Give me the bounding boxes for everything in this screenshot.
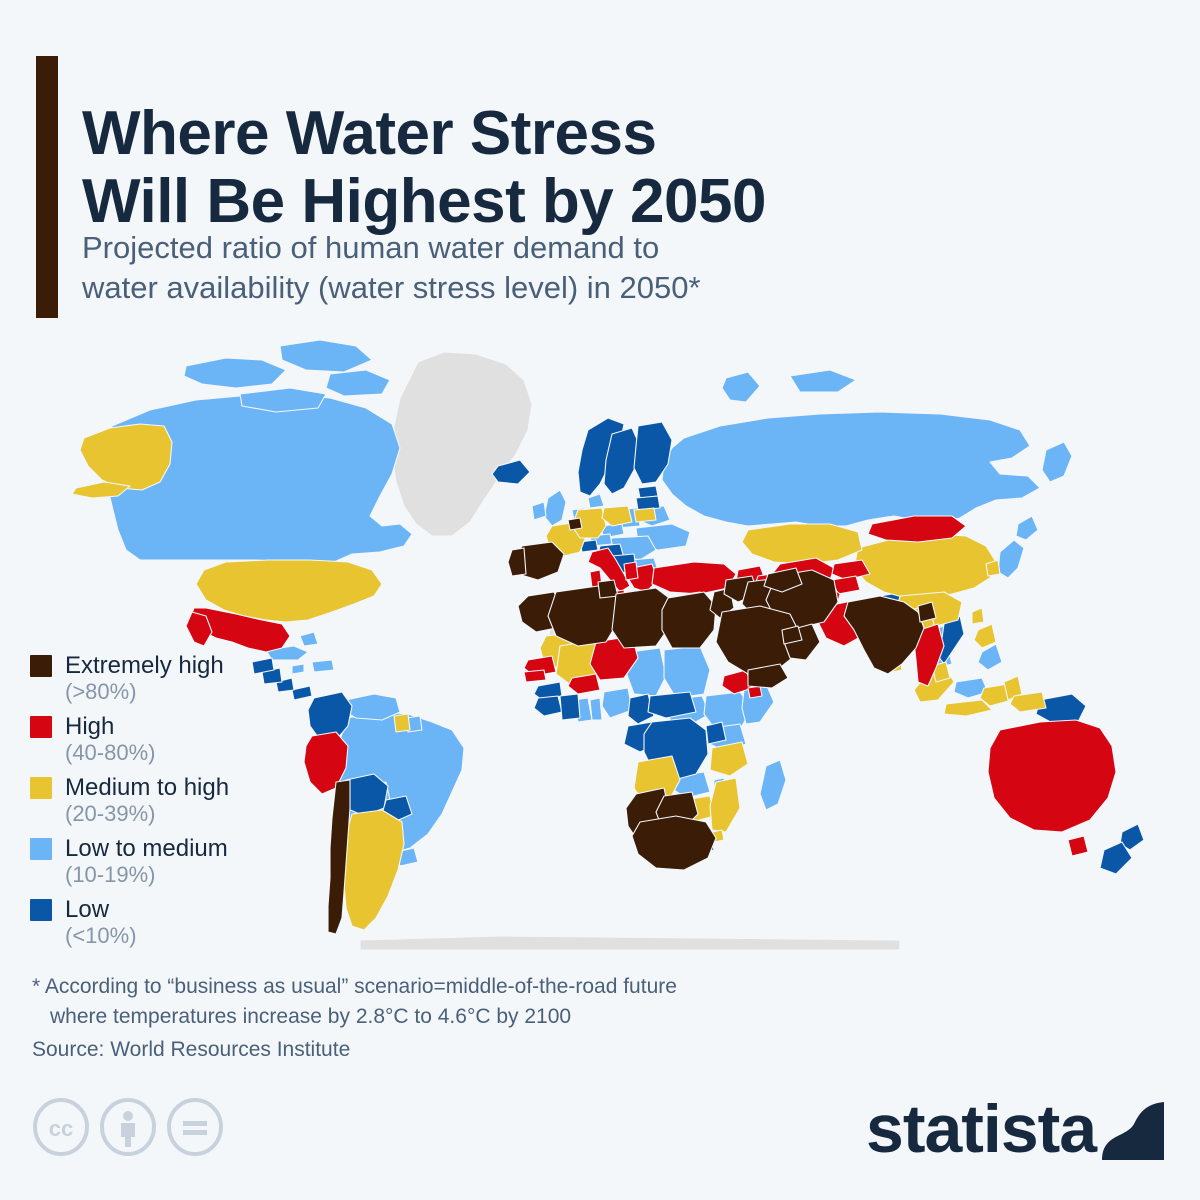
region-guyana: [394, 714, 410, 732]
cc-icon[interactable]: cc: [32, 1098, 90, 1156]
page-subtitle: Projected ratio of human water demand to…: [82, 228, 962, 307]
accent-bar: [36, 56, 58, 318]
legend-label-high: High: [65, 713, 330, 740]
legend-item-low: Low (<10%): [30, 896, 330, 949]
infographic-page: Where Water Stress Will Be Highest by 20…: [0, 0, 1200, 1200]
legend-label-low: Low: [65, 896, 330, 923]
legend-item-extremely-high: Extremely high (>80%): [30, 652, 330, 705]
no-derivatives-equals-icon[interactable]: [166, 1098, 224, 1156]
region-sudan: [664, 646, 710, 698]
legend-item-high: High (40-80%): [30, 713, 330, 766]
legend-swatch-low-to-medium: [30, 838, 52, 860]
header: Where Water Stress Will Be Highest by 20…: [0, 0, 1200, 340]
legend-label-low-to-medium: Low to medium: [65, 835, 330, 862]
source-label: Source: World Resources Institute: [32, 1038, 350, 1062]
region-portugal: [508, 548, 526, 576]
region-gambia: [524, 670, 546, 682]
legend-swatch-extremely-high: [30, 655, 52, 677]
legend-item-low-to-medium: Low to medium (10-19%): [30, 835, 330, 888]
subtitle-line-2: water availability (water stress level) …: [82, 268, 962, 308]
title-line-1: Where Water Stress: [82, 99, 656, 168]
subtitle-line-1: Projected ratio of human water demand to: [82, 230, 659, 265]
legend-swatch-medium-to-high: [30, 777, 52, 799]
page-title: Where Water Stress Will Be Highest by 20…: [82, 100, 982, 236]
region-togo-benin: [590, 698, 602, 720]
statista-wordmark: statista: [866, 1094, 1166, 1170]
legend-range-medium-to-high: (20-39%): [65, 801, 330, 827]
region-belgium: [568, 518, 582, 530]
region-bangladesh-part: [918, 602, 936, 622]
statista-mark-icon: [1102, 1102, 1164, 1160]
svg-text:statista: statista: [866, 1094, 1098, 1167]
region-albania-macedonia: [624, 562, 638, 580]
legend-swatch-low: [30, 899, 52, 921]
region-lithuania: [634, 508, 656, 522]
region-tunisia: [598, 580, 618, 598]
map-legend: Extremely high (>80%) High (40-80%) Medi…: [30, 652, 330, 957]
region-ivory-coast: [560, 694, 580, 720]
legend-range-extremely-high: (>80%): [65, 679, 330, 705]
region-latvia: [636, 496, 660, 510]
footnote-line-2: where temperatures increase by 2.8°C to …: [32, 1002, 1032, 1032]
legend-label-medium-to-high: Medium to high: [65, 774, 330, 801]
legend-range-high: (40-80%): [65, 740, 330, 766]
creative-commons-icons: cc: [32, 1098, 224, 1156]
svg-text:cc: cc: [49, 1116, 73, 1141]
footer: cc statista: [0, 1080, 1200, 1200]
legend-swatch-high: [30, 716, 52, 738]
footnote: * According to “business as usual” scena…: [32, 972, 1032, 1032]
region-tasmania: [1068, 836, 1088, 856]
legend-label-extremely-high: Extremely high: [65, 652, 330, 679]
region-djibouti: [748, 686, 762, 698]
attribution-person-icon[interactable]: [99, 1098, 157, 1156]
footnote-line-1: * According to “business as usual” scena…: [32, 975, 677, 998]
legend-range-low: (<10%): [65, 923, 330, 949]
statista-logo[interactable]: statista: [866, 1094, 1166, 1170]
title-line-2: Will Be Highest by 2050: [82, 168, 982, 236]
region-uganda-rwanda: [706, 722, 726, 744]
legend-range-low-to-medium: (10-19%): [65, 862, 330, 888]
legend-item-medium-to-high: Medium to high (20-39%): [30, 774, 330, 827]
